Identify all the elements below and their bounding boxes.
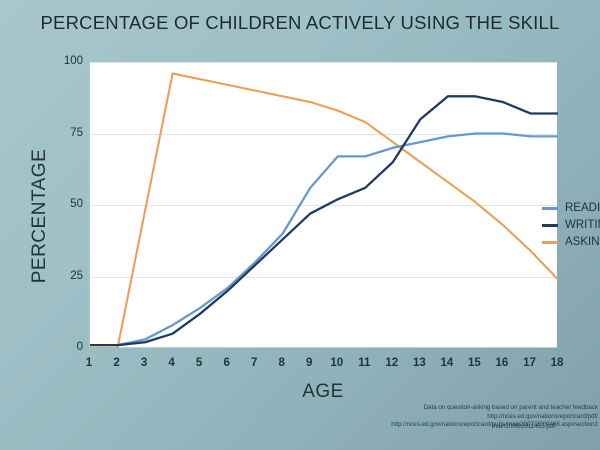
x-tick-2: 2 xyxy=(105,358,129,370)
x-tick-13: 13 xyxy=(407,358,431,370)
x-axis-title: AGE xyxy=(89,381,557,403)
x-tick-14: 14 xyxy=(435,358,459,370)
x-tick-3: 3 xyxy=(132,358,156,370)
y-tick-100: 100 xyxy=(27,56,83,68)
x-tick-18: 18 xyxy=(545,358,569,370)
x-tick-1: 1 xyxy=(77,358,101,370)
source-note-line-2: http://nces.ed.gov/nationsreportcard/pdf… xyxy=(300,413,598,422)
x-tick-7: 7 xyxy=(242,358,266,370)
source-note-line-1: Data on question-asking based on parent … xyxy=(300,404,598,413)
source-note-line-3b: http://nces.ed.gov/nationsreportcard/pub… xyxy=(391,421,598,430)
y-tick-0: 0 xyxy=(27,342,83,354)
slide-canvas: PERCENTAGE OF CHILDREN ACTIVELY USING TH… xyxy=(0,0,600,450)
x-tick-5: 5 xyxy=(187,358,211,370)
x-tick-8: 8 xyxy=(270,358,294,370)
x-tick-17: 17 xyxy=(517,358,541,370)
y-axis-title: PERCENTAGE xyxy=(29,116,51,316)
x-tick-16: 16 xyxy=(490,358,514,370)
x-tick-9: 9 xyxy=(297,358,321,370)
x-tick-12: 12 xyxy=(380,358,404,370)
x-tick-11: 11 xyxy=(352,358,376,370)
x-tick-15: 15 xyxy=(462,358,486,370)
x-tick-4: 4 xyxy=(160,358,184,370)
x-tick-6: 6 xyxy=(215,358,239,370)
source-notes: Data on question-asking based on parent … xyxy=(300,404,598,421)
x-tick-10: 10 xyxy=(325,358,349,370)
